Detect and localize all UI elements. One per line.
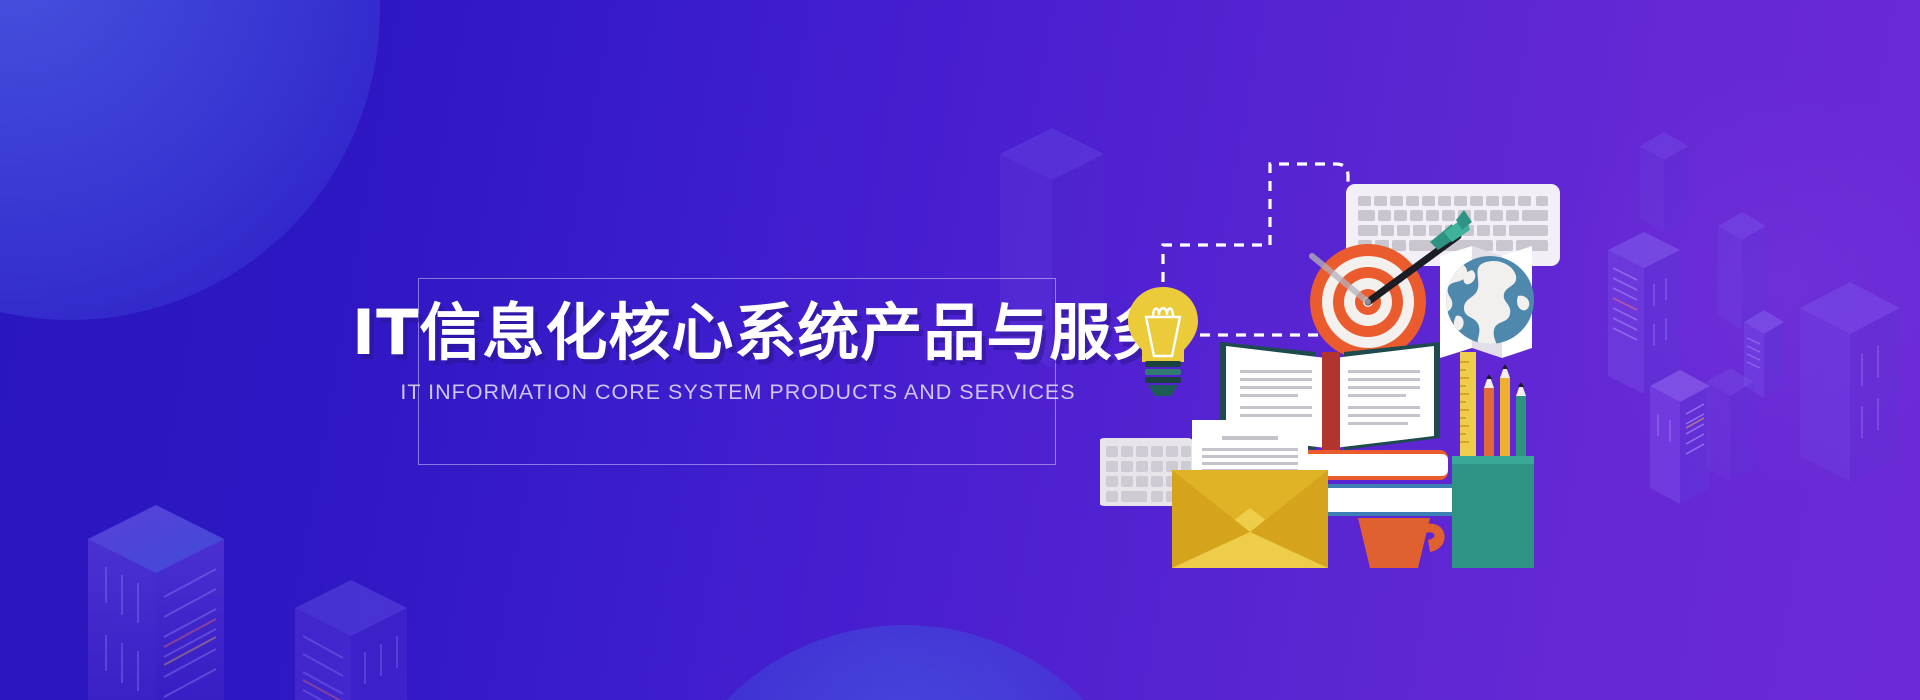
- title-block: IT信息化核心系统产品与服务 IT INFORMATION CORE SYSTE…: [352, 300, 1124, 405]
- pencil-icon-3: [1516, 382, 1526, 462]
- blob-mid-right: [1560, 70, 1920, 500]
- envelope-icon: [1172, 470, 1328, 568]
- building-r1: [1640, 132, 1710, 242]
- coffee-cup-icon: [1358, 518, 1445, 568]
- blob-top-left: [0, 0, 380, 320]
- hero-banner: IT信息化核心系统产品与服务 IT INFORMATION CORE SYSTE…: [0, 0, 1920, 700]
- page-subtitle: IT INFORMATION CORE SYSTEM PRODUCTS AND …: [352, 380, 1124, 405]
- building-r3: [1718, 212, 1788, 342]
- building-r5: [1800, 282, 1920, 502]
- building-r6: [1650, 370, 1736, 520]
- pencil-icon-2: [1500, 364, 1510, 462]
- ruler-icon: [1460, 352, 1476, 460]
- building-left-tall: [88, 505, 288, 700]
- pencil-icon-1: [1484, 374, 1494, 462]
- illustration-group: [1100, 120, 1550, 570]
- building-r7: [1706, 368, 1776, 498]
- page-title: IT信息化核心系统产品与服务: [352, 300, 1124, 366]
- building-left-short: [295, 580, 455, 700]
- lightbulb-icon: [1128, 287, 1198, 396]
- pencil-holder-icon: [1452, 456, 1534, 568]
- building-r2: [1608, 232, 1718, 412]
- building-r4: [1744, 310, 1804, 410]
- blob-bottom-center: [655, 625, 1155, 700]
